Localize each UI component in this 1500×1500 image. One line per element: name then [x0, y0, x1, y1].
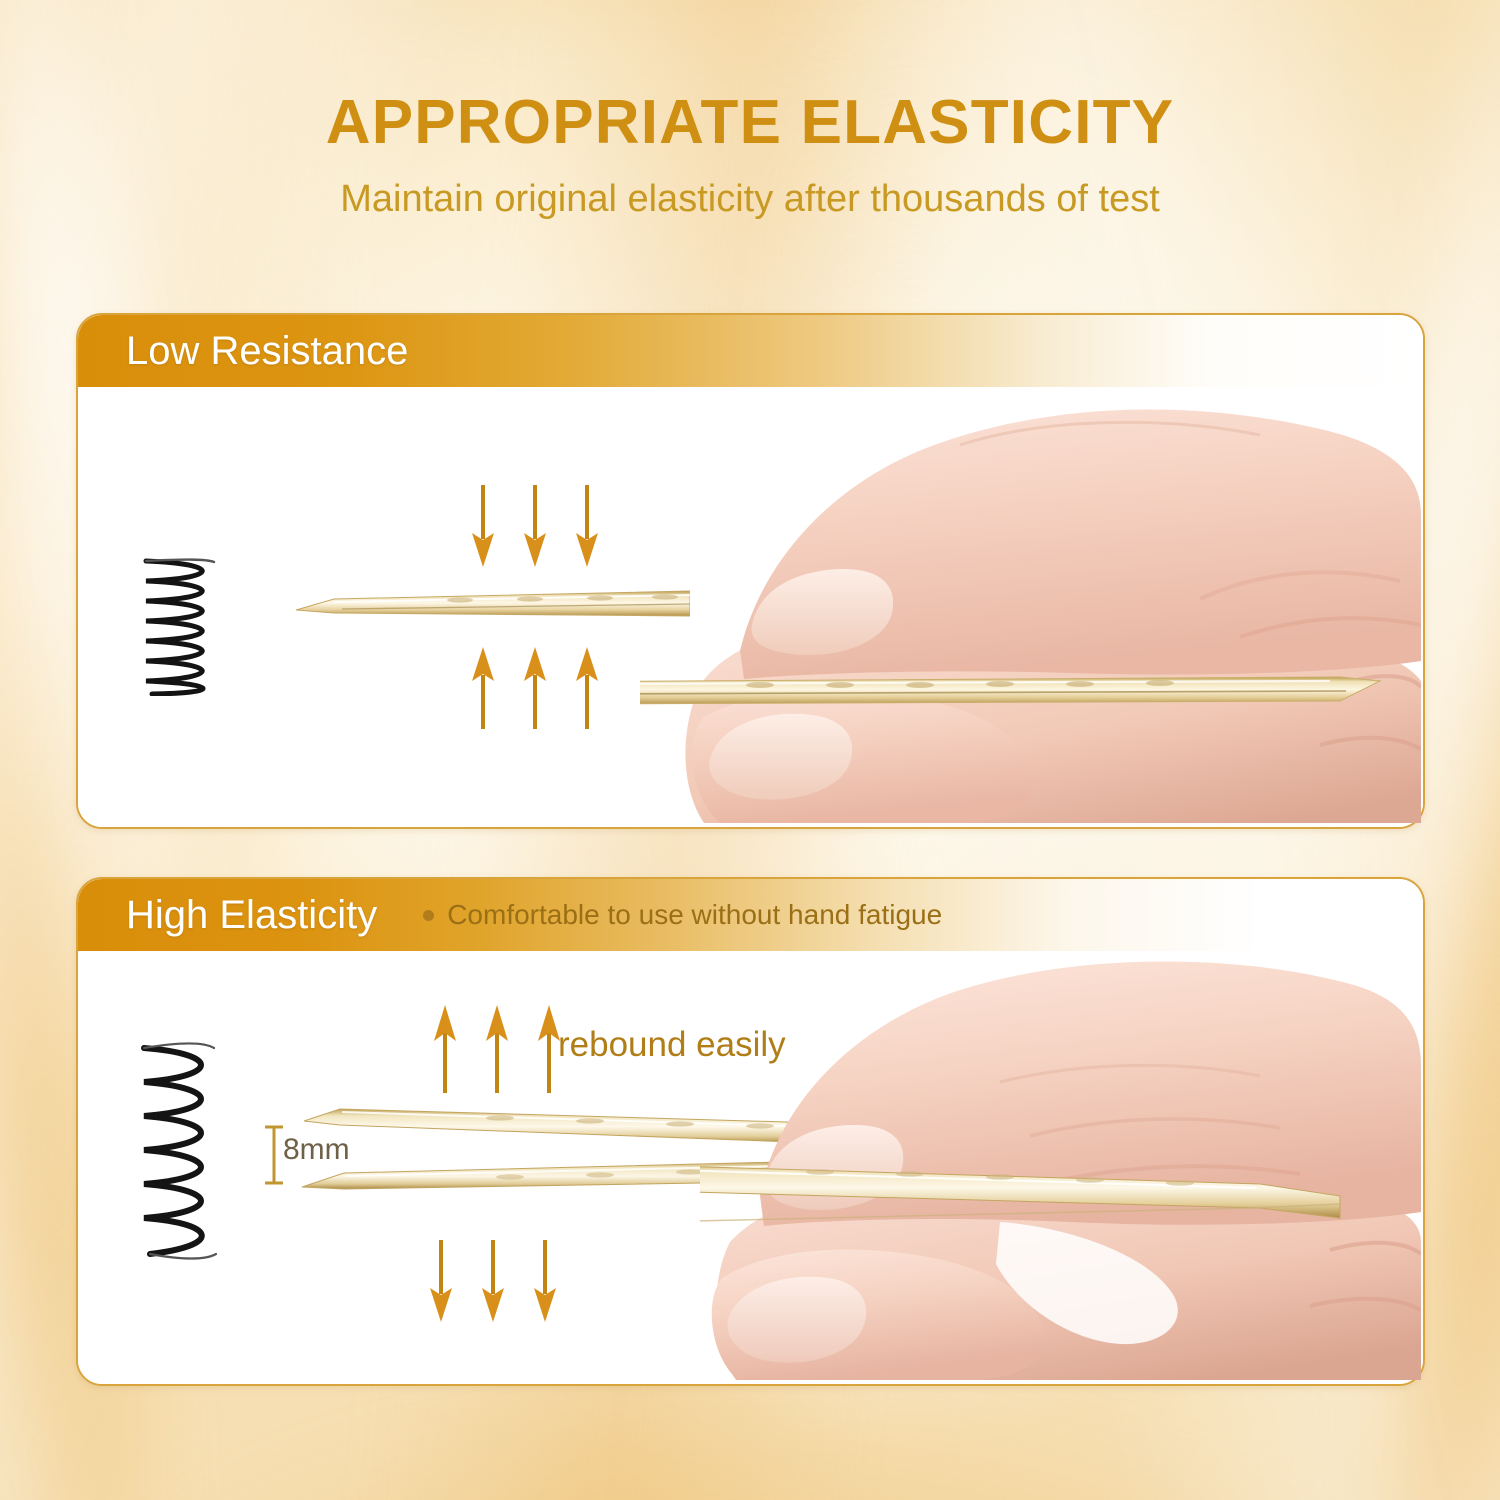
photo-hand-open-tweezers	[700, 950, 1421, 1380]
arrow-up-icon	[432, 1003, 458, 1095]
tweezers-closed-tip	[290, 580, 690, 640]
arrow-up-icon	[574, 645, 600, 731]
arrow-down-icon	[532, 1238, 558, 1324]
infographic-canvas: APPROPRIATE ELASTICITY Maintain original…	[0, 0, 1500, 1500]
arrow-up-icon	[484, 1003, 510, 1095]
arrow-down-icon	[470, 483, 496, 569]
card-low-resistance-title: Low Resistance	[126, 329, 408, 374]
arrow-down-icon	[522, 483, 548, 569]
photo-hand-closed-tweezers	[640, 385, 1421, 823]
card-high-elasticity-note: Comfortable to use without hand fatigue	[423, 899, 942, 931]
card-high-elasticity-title: High Elasticity	[126, 893, 377, 938]
page-subtitle: Maintain original elasticity after thous…	[0, 180, 1500, 218]
arrow-down-icon	[480, 1238, 506, 1324]
spring-compressed-icon	[126, 556, 234, 696]
arrow-down-icon	[574, 483, 600, 569]
spring-expanded-icon	[122, 1040, 234, 1262]
arrow-group-up-high	[432, 1003, 562, 1095]
page-title: APPROPRIATE ELASTICITY	[0, 92, 1500, 154]
heading-block: APPROPRIATE ELASTICITY Maintain original…	[0, 92, 1500, 218]
card-high-elasticity-note-text: Comfortable to use without hand fatigue	[447, 899, 942, 931]
arrow-up-icon	[470, 645, 496, 731]
card-high-elasticity-header: High Elasticity Comfortable to use witho…	[78, 879, 1423, 951]
arrow-group-down-high	[428, 1238, 558, 1324]
arrow-group-up-low	[470, 645, 600, 731]
bullet-dot-icon	[423, 910, 434, 921]
arrow-group-down-low	[470, 483, 600, 569]
card-low-resistance-header: Low Resistance	[78, 315, 1423, 387]
arrow-up-icon	[522, 645, 548, 731]
arrow-down-icon	[428, 1238, 454, 1324]
